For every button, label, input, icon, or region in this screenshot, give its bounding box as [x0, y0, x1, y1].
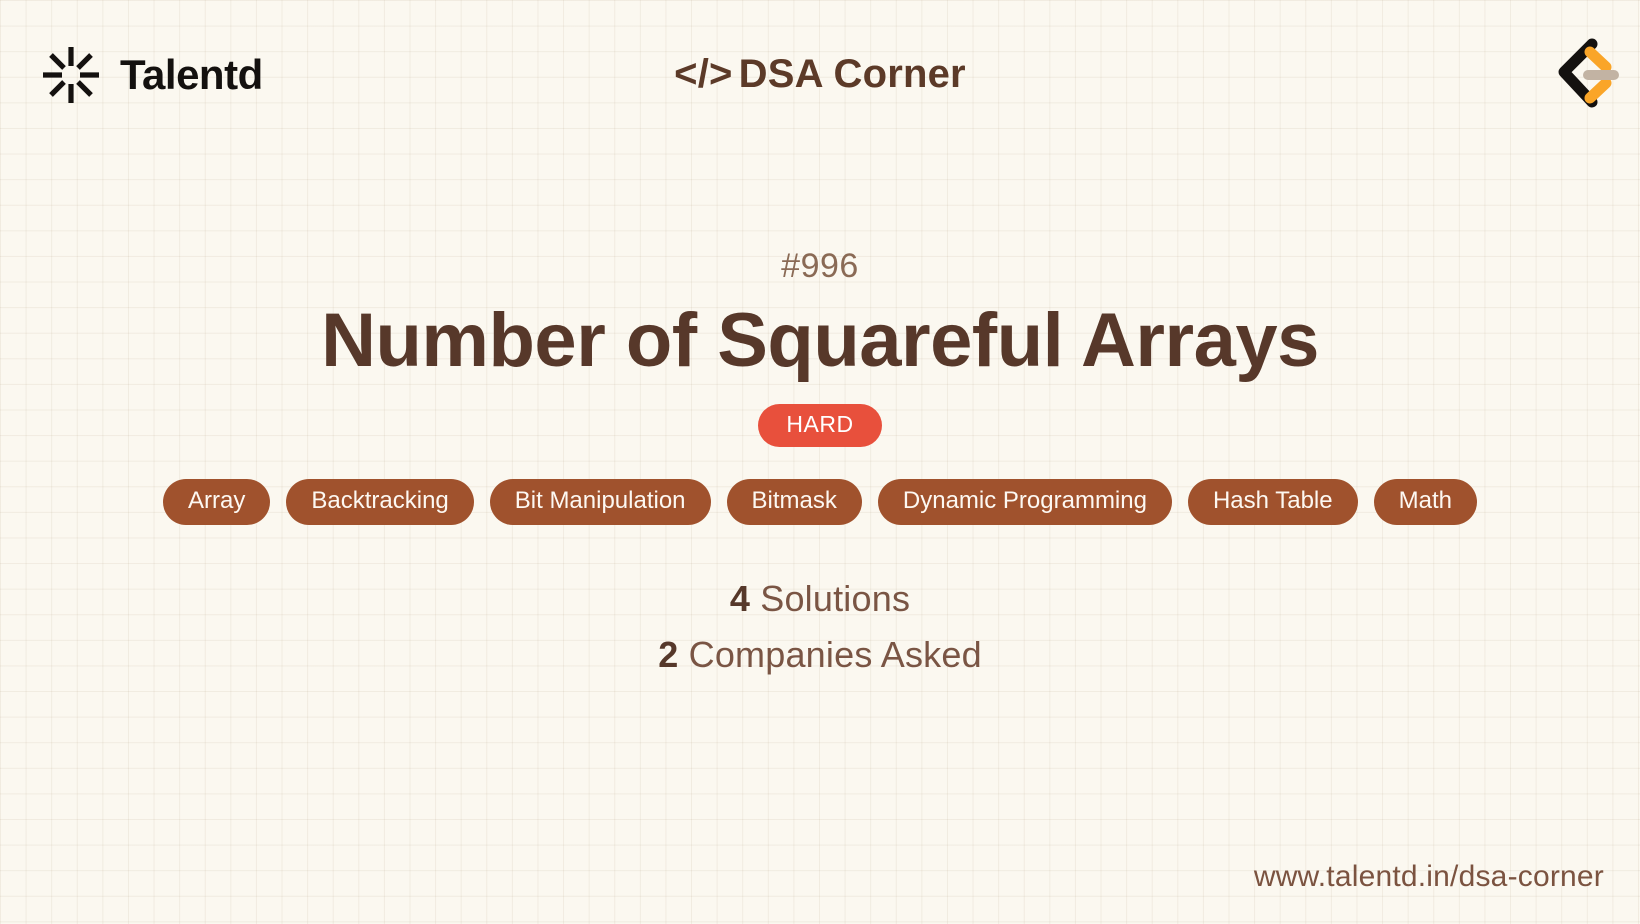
tag-item[interactable]: Backtracking	[286, 479, 473, 525]
stat-solutions: 4 Solutions	[658, 571, 982, 627]
page-title: </>DSA Corner	[0, 52, 1640, 97]
stat-solutions-value: 4	[730, 578, 750, 619]
tag-item[interactable]: Math	[1374, 479, 1477, 525]
code-brackets-icon: </>	[674, 52, 732, 96]
tag-item[interactable]: Bitmask	[727, 479, 862, 525]
page-title-text: DSA Corner	[739, 52, 966, 96]
footer-url[interactable]: www.talentd.in/dsa-corner	[1254, 860, 1604, 894]
stat-companies-value: 2	[658, 634, 678, 675]
stat-solutions-label: Solutions	[760, 578, 910, 619]
stats-block: 4 Solutions 2 Companies Asked	[658, 571, 982, 683]
tag-item[interactable]: Array	[163, 479, 270, 525]
header: Talentd </>DSA Corner	[0, 0, 1640, 150]
difficulty-badge: HARD	[758, 404, 881, 447]
problem-number: #996	[781, 247, 859, 286]
talentd-chevron-c-icon	[1530, 26, 1626, 122]
tag-item[interactable]: Hash Table	[1188, 479, 1358, 525]
stat-companies-label: Companies Asked	[689, 634, 982, 675]
tag-list: Array Backtracking Bit Manipulation Bitm…	[163, 479, 1477, 525]
tag-item[interactable]: Bit Manipulation	[490, 479, 711, 525]
problem-title: Number of Squareful Arrays	[321, 300, 1319, 382]
stat-companies: 2 Companies Asked	[658, 627, 982, 683]
problem-card: #996 Number of Squareful Arrays HARD Arr…	[0, 150, 1640, 810]
tag-item[interactable]: Dynamic Programming	[878, 479, 1172, 525]
slide-canvas: Talentd </>DSA Corner #996 Number of Squ…	[0, 0, 1640, 924]
